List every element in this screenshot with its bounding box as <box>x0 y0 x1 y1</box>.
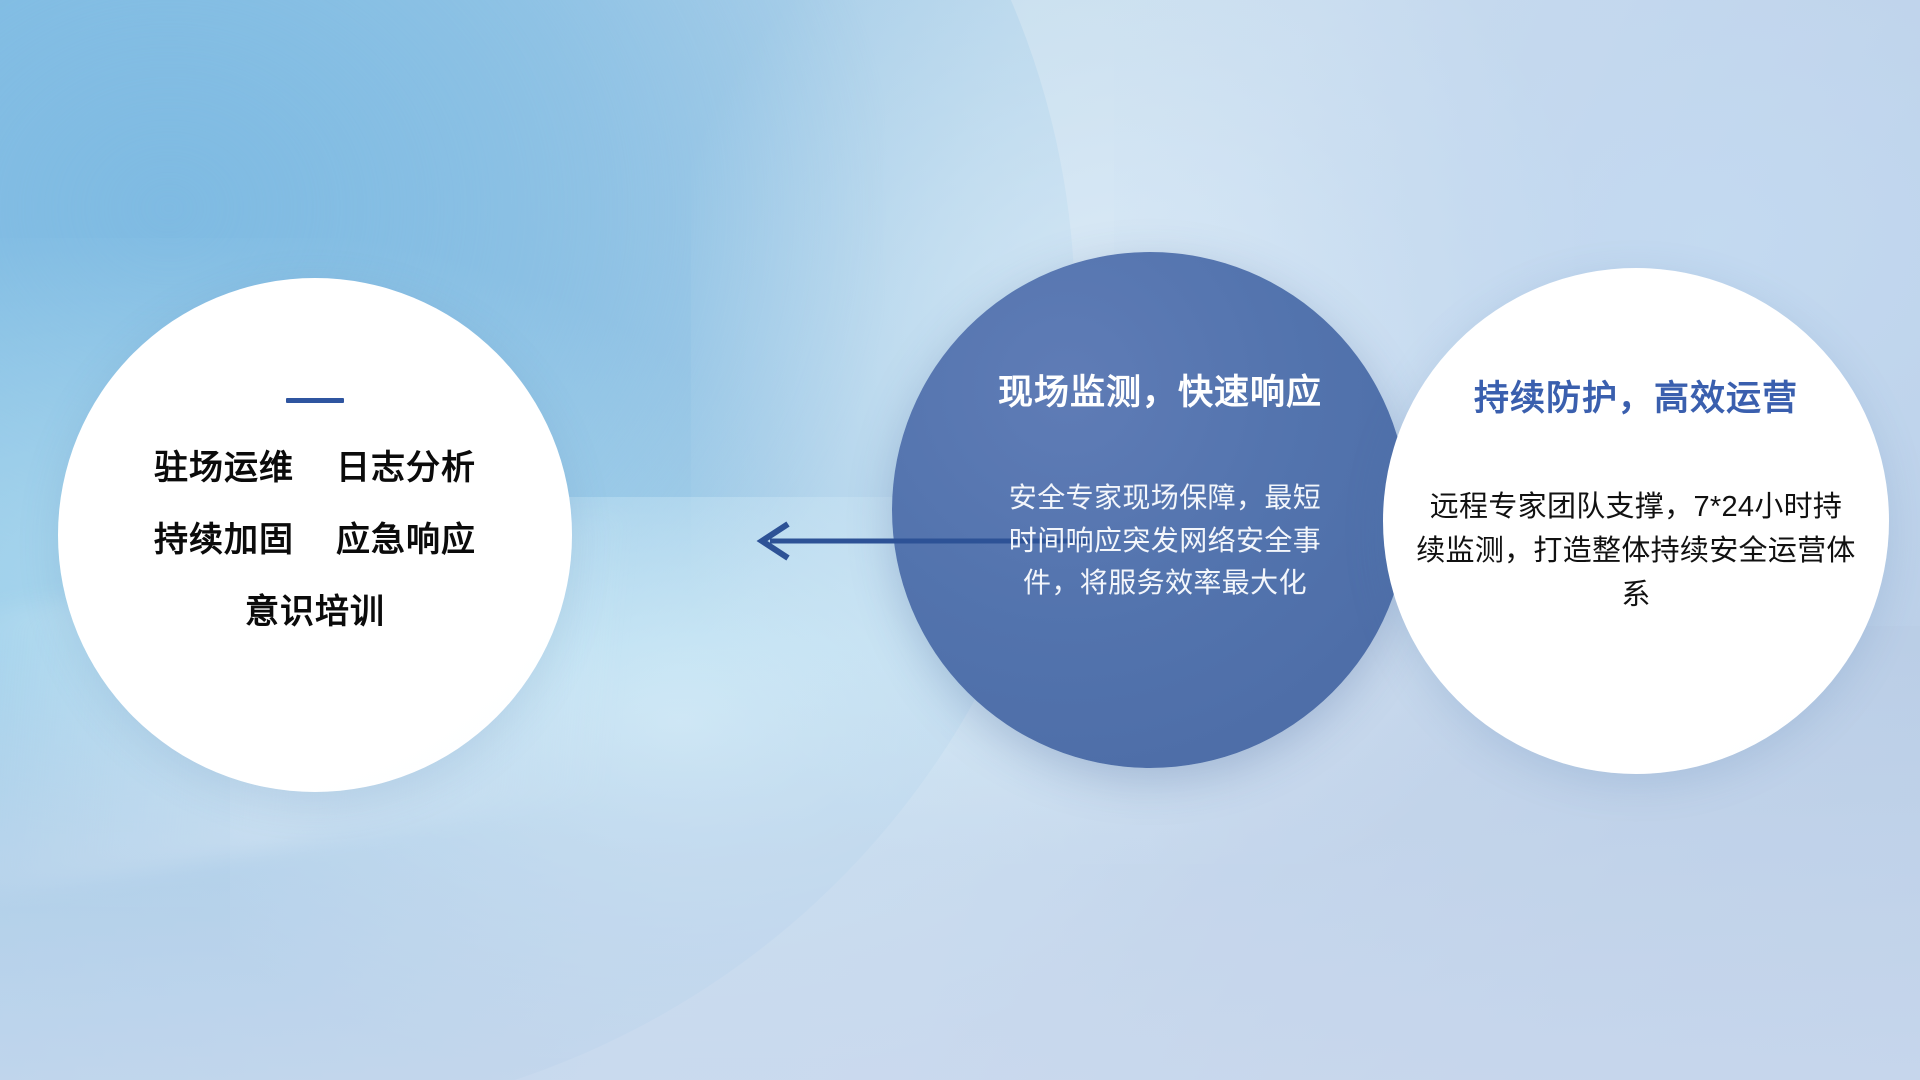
continuous-protection-circle: 持续防护，高效运营 远程专家团队支撑，7*24小时持续监测，打造整体持续安全运营… <box>1383 268 1889 774</box>
keyword-item: 日志分析 <box>336 451 476 485</box>
keyword-item: 持续加固 <box>154 523 294 557</box>
keyword-item: 驻场运维 <box>154 451 294 485</box>
onsite-monitoring-circle: 现场监测，快速响应 安全专家现场保障，最短时间响应突发网络安全事件，将服务效率最… <box>892 252 1408 768</box>
horizontal-rule-icon <box>286 398 344 403</box>
continuous-protection-body: 远程专家团队支撑，7*24小时持续监测，打造整体持续安全运营体系 <box>1416 485 1856 617</box>
onsite-monitoring-title: 现场监测，快速响应 <box>998 364 1322 415</box>
keyword-row: 驻场运维 日志分析 <box>154 451 476 485</box>
onsite-monitoring-body: 安全专家现场保障，最短时间响应突发网络安全事件，将服务效率最大化 <box>1003 477 1327 605</box>
keyword-item: 意识培训 <box>245 595 385 629</box>
keyword-item: 应急响应 <box>336 523 476 557</box>
keyword-row: 持续加固 应急响应 <box>154 523 476 557</box>
continuous-protection-title: 持续防护，高效运营 <box>1474 370 1798 421</box>
capabilities-circle: 驻场运维 日志分析 持续加固 应急响应 意识培训 <box>58 278 572 792</box>
keyword-row: 意识培训 <box>245 595 385 629</box>
